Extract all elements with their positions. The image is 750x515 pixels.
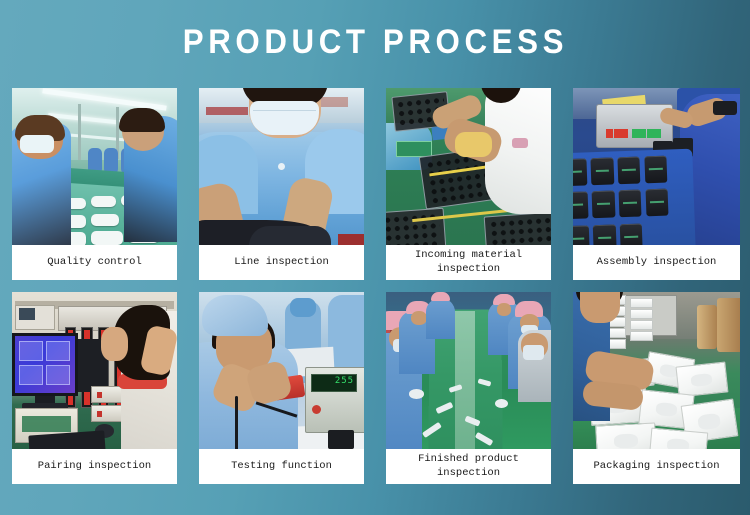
caption-assembly-inspection: Assembly inspection: [573, 245, 740, 280]
photo-assembly-inspection: [573, 88, 740, 245]
banner-title-area: PRODUCT PROCESS: [0, 0, 750, 84]
meter-reading: 255: [335, 376, 354, 386]
caption-line-inspection: Line inspection: [199, 245, 364, 280]
process-card-incoming-material-inspection[interactable]: Incoming material inspection: [386, 88, 551, 280]
process-card-line-inspection[interactable]: Line inspection: [199, 88, 364, 280]
caption-testing-function: Testing function: [199, 449, 364, 484]
photo-testing-function: 255: [199, 292, 364, 449]
product-process-banner: PRODUCT PROCESS: [0, 0, 750, 515]
photo-pairing-inspection: [12, 292, 177, 449]
photo-quality-control: [12, 88, 177, 245]
photo-finished-product-inspection: [386, 292, 551, 449]
process-card-grid: Quality control Line inspection: [12, 88, 739, 484]
photo-line-inspection: [199, 88, 364, 245]
caption-pairing-inspection: Pairing inspection: [12, 449, 177, 484]
caption-incoming-material-inspection: Incoming material inspection: [386, 245, 551, 280]
caption-finished-product-inspection: Finished product inspection: [386, 449, 551, 484]
caption-quality-control: Quality control: [12, 245, 177, 280]
process-card-assembly-inspection[interactable]: Assembly inspection: [573, 88, 740, 280]
process-card-quality-control[interactable]: Quality control: [12, 88, 177, 280]
process-card-pairing-inspection[interactable]: Pairing inspection: [12, 292, 177, 484]
process-card-finished-product-inspection[interactable]: Finished product inspection: [386, 292, 551, 484]
photo-packaging-inspection: [573, 292, 740, 449]
process-card-testing-function[interactable]: 255 Testing function: [199, 292, 364, 484]
page-title: PRODUCT PROCESS: [182, 25, 567, 59]
photo-incoming-material-inspection: [386, 88, 551, 245]
process-card-packaging-inspection[interactable]: Packaging inspection: [573, 292, 740, 484]
caption-packaging-inspection: Packaging inspection: [573, 449, 740, 484]
